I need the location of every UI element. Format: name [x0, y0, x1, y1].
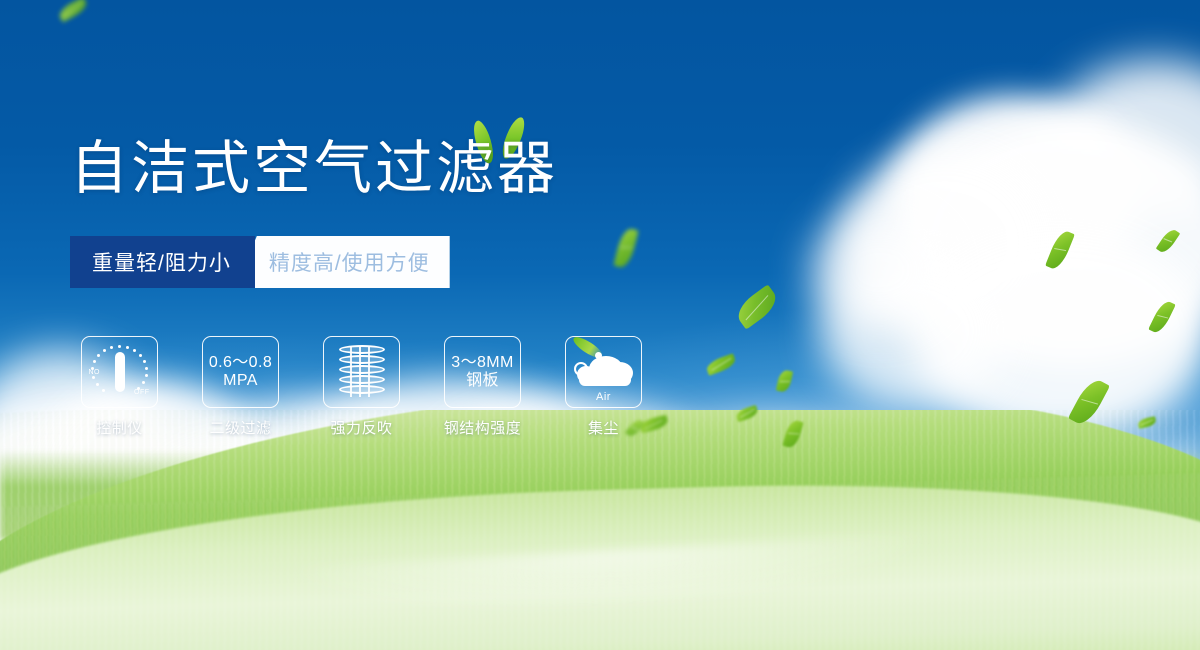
feature-icon-box: NO OFF: [81, 336, 158, 408]
feature-list: NO OFF 控制仪 0.6～0.8 MPA 二级过滤: [72, 336, 651, 438]
cloud-base: [579, 374, 631, 386]
feature-label: 钢结构强度: [444, 417, 522, 438]
steel-value-line1: 3～8MM: [451, 354, 513, 372]
feature-icon-box: 3～8MM 钢板: [444, 336, 521, 408]
pressure-value-line1: 0.6～0.8: [209, 354, 272, 372]
dial-pointer: [115, 352, 125, 392]
feature-icon-box: [323, 336, 400, 408]
feature-label: 强力反吹: [330, 417, 392, 438]
feature-item-two-stage-filter[interactable]: 0.6～0.8 MPA 二级过滤: [193, 336, 288, 438]
subtitle-bar: 重量轻/阻力小 精度高/使用方便: [70, 236, 450, 288]
feature-item-dust-collection[interactable]: Air 集尘: [556, 336, 651, 438]
air-cloud-icon: Air: [573, 344, 635, 400]
feature-icon-box: 0.6～0.8 MPA: [202, 336, 279, 408]
feature-item-steel-strength[interactable]: 3～8MM 钢板 钢结构强度: [435, 336, 530, 438]
dial-off-label: OFF: [134, 389, 150, 396]
steel-value-line2: 钢板: [466, 372, 499, 390]
dial-on-label: NO: [89, 369, 101, 376]
dust-particle-icon: [595, 352, 602, 359]
pressure-value-line2: MPA: [223, 372, 258, 390]
air-label: Air: [573, 391, 635, 403]
feature-item-backflush[interactable]: 强力反吹: [314, 336, 409, 438]
feature-label: 集尘: [588, 417, 619, 438]
control-dial-icon: NO OFF: [89, 343, 151, 401]
subtitle-left: 重量轻/阻力小: [70, 236, 255, 288]
filter-coil-icon: [337, 344, 387, 400]
feature-label: 控制仪: [96, 417, 143, 438]
product-hero-banner: 自洁式空气过滤器 重量轻/阻力小 精度高/使用方便: [0, 0, 1200, 650]
page-title: 自洁式空气过滤器: [70, 140, 558, 198]
feature-label: 二级过滤: [209, 417, 271, 438]
grass-field: [0, 410, 1200, 650]
subtitle-right: 精度高/使用方便: [235, 236, 450, 288]
feature-item-controller[interactable]: NO OFF 控制仪: [72, 336, 167, 438]
cloud-puff: [810, 210, 950, 330]
dust-particle-icon: [574, 362, 588, 376]
feature-icon-box: Air: [565, 336, 642, 408]
